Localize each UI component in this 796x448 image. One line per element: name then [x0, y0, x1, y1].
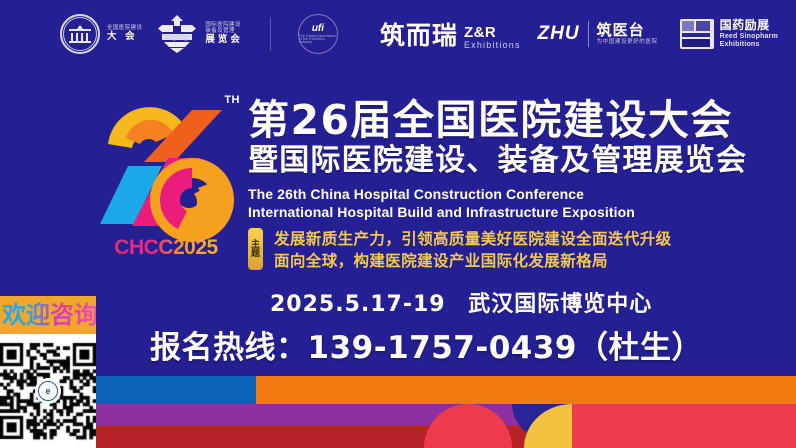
- snowflake-icon: [156, 13, 198, 55]
- theme-block: 主 题 发展新质生产力，引领高质量美好医院建设全面迭代升级 面向全球，构建医院建…: [248, 228, 672, 273]
- title-english-line2: International Hospital Build and Infrast…: [248, 204, 788, 222]
- international-expo-text: 国际医院建设 装备及管理 展览会: [205, 23, 243, 45]
- title-chinese-main: 第26届全国医院建设大会: [248, 98, 788, 142]
- registration-hotline: 报名热线：139-1757-0439（杜生）: [150, 322, 770, 367]
- qr-code-image[interactable]: e: [0, 334, 96, 448]
- header-left-logos: 全国医院建设 大 会: [60, 13, 521, 55]
- header-logo-strip: 全国医院建设 大 会: [0, 0, 796, 68]
- logo-reed-sinopharm: 国药励展 Reed Sinopharm Exhibitions: [680, 19, 778, 49]
- ufi-logo: ufi The Global Association of the Exhibi…: [298, 14, 338, 54]
- zhu-wordmark: ZHU: [538, 23, 580, 45]
- reed-english-line1: Reed Sinopharm: [720, 33, 778, 41]
- zr-english-name: Z&R Exhibitions: [464, 25, 521, 52]
- qr-center-logo: e: [35, 378, 61, 404]
- theme-badge: 主 题: [248, 228, 263, 270]
- poster-root: 全国医院建设 大 会: [0, 0, 796, 448]
- theme-line1: 发展新质生产力，引领高质量美好医院建设全面迭代升级: [274, 228, 672, 250]
- theme-line2: 面向全球，构建医院建设产业国际化发展新格局: [274, 250, 672, 272]
- bar-red-right: [572, 404, 796, 448]
- title-block: 第26届全国医院建设大会 暨国际医院建设、装备及管理展览会 The 26th C…: [248, 98, 788, 222]
- zr-en-line2: Exhibitions: [464, 41, 521, 50]
- title-english: The 26th China Hospital Construction Con…: [248, 186, 788, 222]
- superscript-th: TH: [224, 94, 240, 106]
- zhu-text-block: 筑医台 为中国建设更好的医院: [597, 22, 658, 46]
- welcome-consult-text: 欢迎咨询: [2, 300, 96, 330]
- event-venue: 武汉国际博览中心: [468, 292, 652, 317]
- zr-chinese-name: 筑而瑞: [380, 16, 458, 52]
- bar-blue: [96, 376, 256, 404]
- event-date: 2025.5.17-19: [270, 292, 446, 317]
- bottom-color-bars: [0, 366, 796, 448]
- theme-badge-char2: 题: [251, 249, 260, 258]
- zr-en-line1: Z&R: [464, 25, 521, 41]
- qr-center-glyph: e: [38, 381, 58, 401]
- logo-zr-exhibitions: 筑而瑞 Z&R Exhibitions: [380, 16, 521, 52]
- conference-seal-text: 全国医院建设 大 会: [107, 26, 142, 42]
- event-date-venue: 2025.5.17-19 武汉国际博览中心: [270, 286, 652, 318]
- anniversary-26-logo: TH CHCC2025: [96, 92, 236, 262]
- bar-orange: [256, 376, 796, 404]
- reed-text-block: 国药励展 Reed Sinopharm Exhibitions: [720, 19, 778, 48]
- ufi-main-text: ufi: [312, 24, 324, 34]
- conference-seal-line2: 大 会: [107, 32, 142, 42]
- reed-english-line2: Exhibitions: [720, 41, 778, 49]
- zhu-divider: [588, 21, 589, 47]
- ufi-sub-text: The Global Association of the Exhibition…: [299, 35, 337, 45]
- title-english-line1: The 26th China Hospital Construction Con…: [248, 186, 788, 204]
- zhu-tagline: 为中国建设更好的医院: [597, 39, 658, 45]
- logo-international-expo: 国际医院建设 装备及管理 展览会: [156, 13, 243, 55]
- reed-sinopharm-icon: [680, 19, 714, 49]
- logo-zhu-medical: ZHU 筑医台 为中国建设更好的医院: [538, 21, 658, 47]
- header-right-logos: ZHU 筑医台 为中国建设更好的医院 国药励展 Reed Sinopharm E…: [538, 19, 779, 49]
- conference-seal-icon: [60, 14, 100, 54]
- theme-text: 发展新质生产力，引领高质量美好医院建设全面迭代升级 面向全球，构建医院建设产业国…: [274, 228, 672, 273]
- expo-line3: 展览会: [205, 35, 243, 45]
- logo-26-graphic: [96, 92, 236, 242]
- title-chinese-sub: 暨国际医院建设、装备及管理展览会: [248, 144, 788, 179]
- zhu-title: 筑医台: [597, 22, 658, 39]
- header-divider: [270, 17, 271, 51]
- reed-chinese-name: 国药励展: [720, 19, 778, 32]
- logo-national-hospital-conference: 全国医院建设 大 会: [60, 14, 142, 54]
- chcc-wordmark: CHCC2025: [96, 236, 236, 260]
